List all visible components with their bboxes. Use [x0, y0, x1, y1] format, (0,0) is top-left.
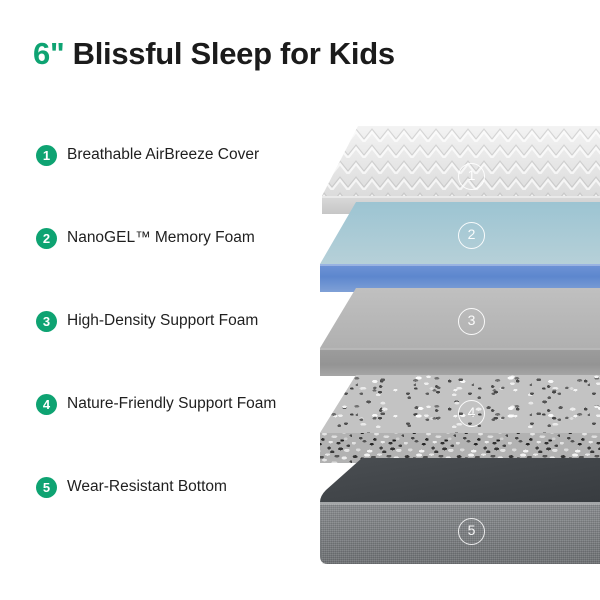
layer-legend: 1 Breathable AirBreeze Cover 2 NanoGEL™ …: [36, 144, 302, 559]
legend-badge-2: 2: [36, 228, 57, 249]
legend-label-4: Nature-Friendly Support Foam: [67, 393, 297, 415]
layer-4-rebond-foam: [300, 375, 600, 467]
mattress-layer-diagram: 1 2: [300, 0, 600, 600]
legend-badge-4: 4: [36, 394, 57, 415]
layer-2-memory-foam: [300, 202, 600, 297]
layer-marker-4: 4: [458, 400, 485, 427]
layer-marker-3: 3: [458, 308, 485, 335]
legend-item-4: 4 Nature-Friendly Support Foam: [36, 393, 302, 476]
legend-item-3: 3 High-Density Support Foam: [36, 310, 302, 393]
legend-label-2: NanoGEL™ Memory Foam: [67, 227, 297, 249]
layer-3-support-foam: [300, 288, 600, 383]
mattress-height-label: 6": [33, 36, 64, 71]
layer-marker-2: 2: [458, 222, 485, 249]
legend-badge-5: 5: [36, 477, 57, 498]
legend-badge-3: 3: [36, 311, 57, 332]
layer-marker-1: 1: [458, 163, 485, 190]
legend-item-5: 5 Wear-Resistant Bottom: [36, 476, 302, 559]
infographic-canvas: 6" Blissful Sleep for Kids 1 Breathable …: [0, 0, 600, 600]
legend-label-5: Wear-Resistant Bottom: [67, 476, 297, 498]
legend-item-1: 1 Breathable AirBreeze Cover: [36, 144, 302, 227]
legend-label-1: Breathable AirBreeze Cover: [67, 144, 297, 166]
layer-marker-5: 5: [458, 518, 485, 545]
layer-5-bottom-base: [300, 458, 600, 573]
legend-label-3: High-Density Support Foam: [67, 310, 297, 332]
legend-badge-1: 1: [36, 145, 57, 166]
legend-item-2: 2 NanoGEL™ Memory Foam: [36, 227, 302, 310]
